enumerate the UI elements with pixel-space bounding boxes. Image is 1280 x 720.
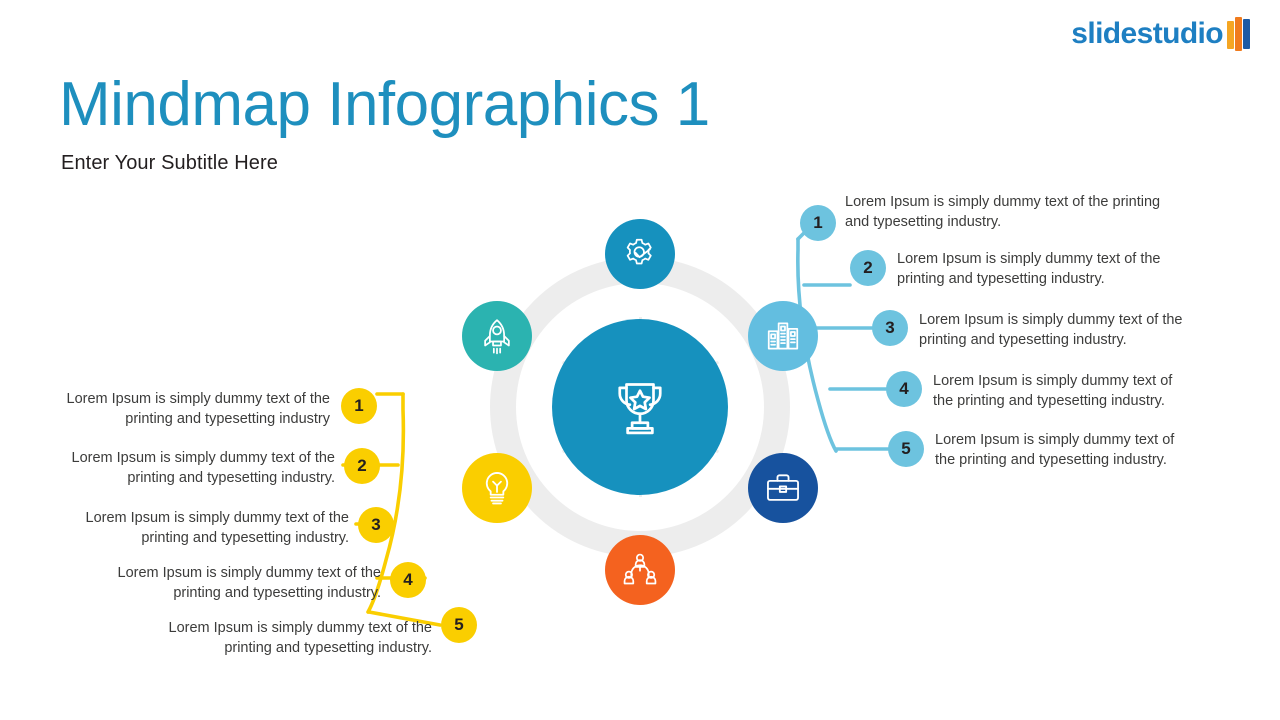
right-item-text-1: Lorem Ipsum is simply dummy text of the … (845, 192, 1175, 232)
bullet-number: 2 (863, 258, 872, 278)
wheel-node-gear[interactable] (605, 219, 675, 289)
right-item-text-2: Lorem Ipsum is simply dummy text of the … (897, 249, 1199, 289)
left-item-text-1: Lorem Ipsum is simply dummy text of the … (52, 389, 330, 429)
right-item-bullet-3[interactable]: 3 (872, 310, 908, 346)
page-title: Mindmap Infographics 1 (59, 72, 710, 137)
left-item-text-5: Lorem Ipsum is simply dummy text of the … (154, 618, 432, 658)
right-item-text-5: Lorem Ipsum is simply dummy text of the … (935, 430, 1193, 470)
wheel-center-node[interactable] (552, 319, 728, 495)
lightbulb-icon (478, 469, 516, 507)
bullet-number: 4 (403, 570, 412, 590)
page-subtitle: Enter Your Subtitle Here (61, 152, 278, 175)
slide-canvas: slidestudio Mindmap Infographics 1 Enter… (0, 0, 1280, 720)
left-item-bullet-4[interactable]: 4 (390, 562, 426, 598)
bullet-number: 1 (354, 396, 363, 416)
bullet-number: 3 (885, 318, 894, 338)
left-item-text-2: Lorem Ipsum is simply dummy text of the … (57, 448, 335, 488)
left-item-text-3: Lorem Ipsum is simply dummy text of the … (71, 508, 349, 548)
wheel-node-rocket[interactable] (462, 301, 532, 371)
brand-logo-mark-icon (1227, 17, 1250, 51)
trophy-icon (604, 371, 676, 443)
right-item-text-4: Lorem Ipsum is simply dummy text of the … (933, 371, 1188, 411)
bullet-number: 3 (371, 515, 380, 535)
buildings-icon (764, 317, 802, 355)
right-item-bullet-4[interactable]: 4 (886, 371, 922, 407)
brand-logo-text: slidestudio (1071, 19, 1223, 49)
bullet-number: 1 (813, 213, 822, 233)
rocket-icon (478, 317, 516, 355)
right-item-bullet-2[interactable]: 2 (850, 250, 886, 286)
wheel-node-buildings[interactable] (748, 301, 818, 371)
wheel-node-team[interactable] (605, 535, 675, 605)
mindmap-wheel (490, 257, 790, 557)
bullet-number: 5 (901, 439, 910, 459)
bullet-number: 5 (454, 615, 463, 635)
team-icon (621, 551, 659, 589)
gear-check-icon (621, 235, 659, 273)
left-item-text-4: Lorem Ipsum is simply dummy text of the … (103, 563, 381, 603)
bullet-number: 4 (899, 379, 908, 399)
right-item-bullet-5[interactable]: 5 (888, 431, 924, 467)
briefcase-icon (764, 469, 802, 507)
wheel-node-lightbulb[interactable] (462, 453, 532, 523)
left-item-bullet-1[interactable]: 1 (341, 388, 377, 424)
brand-logo: slidestudio (1071, 17, 1250, 51)
right-item-bullet-1[interactable]: 1 (800, 205, 836, 241)
left-item-bullet-2[interactable]: 2 (344, 448, 380, 484)
left-item-bullet-5[interactable]: 5 (441, 607, 477, 643)
right-item-text-3: Lorem Ipsum is simply dummy text of the … (919, 310, 1221, 350)
bullet-number: 2 (357, 456, 366, 476)
left-item-bullet-3[interactable]: 3 (358, 507, 394, 543)
wheel-node-briefcase[interactable] (748, 453, 818, 523)
